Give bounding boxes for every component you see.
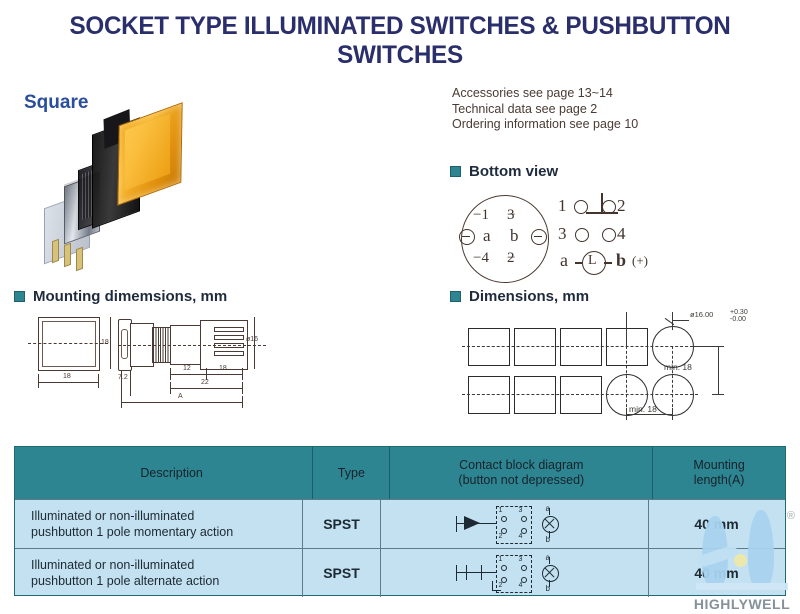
cell-type: SPST (303, 500, 381, 548)
extension-line (693, 346, 719, 347)
specification-table: Description Type Contact block diagram (… (14, 446, 786, 596)
dim-min-spacing-vertical: min. 18 (664, 362, 692, 372)
dim-hole-diameter: ø16.00 (690, 310, 713, 319)
terminal-marker-left-icon (459, 229, 475, 245)
description-line-1: Illuminated or non-illuminated (31, 557, 219, 573)
square-bullet-icon (450, 291, 461, 302)
section-heading-label: Dimensions, mm (469, 288, 589, 305)
cell-contact-block-diagram: 1 3 2 4 a b (381, 500, 649, 548)
header-type: Type (313, 447, 390, 499)
tolerance-minus: -0.00 (730, 316, 746, 324)
table-row[interactable]: Illuminated or non-illuminated pushbutto… (15, 499, 785, 548)
dim-tick (712, 394, 724, 395)
schematic-polarity: (+) (632, 253, 648, 269)
dim-tick (98, 374, 99, 388)
page-title: SOCKET TYPE ILLUMINATED SWITCHES & PUSHB… (12, 12, 788, 70)
reference-ordering-info: Ordering information see page 10 (452, 117, 638, 133)
pin-line (214, 327, 244, 332)
dim-tick (170, 382, 171, 394)
pin-line (214, 335, 244, 340)
lamp-label-a: a (546, 553, 550, 562)
diagram-contact-node (521, 565, 527, 571)
table-row[interactable]: Illuminated or non-illuminated pushbutto… (15, 548, 785, 597)
schematic-lamp-a: a (560, 250, 568, 271)
schematic-terminal-3: 3 (558, 224, 567, 244)
header-mounting-length: Mounting length(A) (653, 447, 785, 499)
datasheet-page: SOCKET TYPE ILLUMINATED SWITCHES & PUSHB… (0, 0, 800, 614)
dim-segment-18: 18 (219, 365, 227, 372)
momentary-arrow-icon (464, 516, 480, 530)
brand-name: HIGHLYWELL (684, 596, 800, 612)
lamp-cross-icon (542, 565, 557, 580)
socket-pin (52, 239, 59, 264)
leader-line (673, 320, 689, 321)
dim-total-22: 22 (201, 379, 209, 386)
dim-line-diameter (254, 317, 255, 369)
dim-front-width: 18 (63, 373, 71, 380)
lamp-terminal-a-label: a (483, 226, 491, 246)
square-bullet-icon (14, 291, 25, 302)
centerline-vertical (626, 312, 627, 348)
mounting-length-value: 40 mm (694, 565, 738, 581)
diagram-contact-node (501, 528, 507, 534)
header-sublabel: (button not depressed) (458, 473, 584, 488)
dim-line-A (121, 402, 242, 403)
diagram-contact-node (501, 577, 507, 583)
cutout-square (468, 376, 510, 414)
diagram-terminal-4: 4 (519, 582, 523, 589)
cell-mounting-length: 40 mm (649, 549, 784, 597)
square-bullet-icon (450, 166, 461, 177)
description-line-2: pushbutton 1 pole alternate action (31, 573, 219, 589)
reference-notes: Accessories see page 13~14 Technical dat… (452, 86, 638, 133)
section-heading-label: Bottom view (469, 163, 558, 180)
terminal-3-label: 3− (507, 207, 515, 224)
cell-mounting-length: 40 mm (649, 500, 784, 548)
schematic-lead-left (575, 262, 582, 264)
pin-group (214, 327, 244, 359)
dim-diameter: ø16 (246, 336, 258, 343)
centerline-vertical (626, 346, 627, 412)
cell-contact-block-diagram: 1 3 2 4 a b (381, 549, 649, 597)
terminal-2-label: 2− (507, 250, 515, 267)
description-line-1: Illuminated or non-illuminated (31, 508, 233, 524)
schematic-terminal-1: 1 (558, 196, 567, 216)
diagram-terminal-2: 2 (499, 582, 503, 589)
section-heading-bottom-view: Bottom view (450, 163, 558, 180)
diagram-terminal-3: 3 (519, 507, 523, 514)
diagram-terminal-1: 1 (499, 507, 503, 514)
dim-line-18 (206, 374, 242, 375)
dim-line-width (38, 382, 98, 383)
diagram-terminal-4: 4 (519, 533, 523, 540)
dim-segment-12: 12 (183, 365, 191, 372)
schematic-node-3-icon (575, 228, 589, 242)
centerline-vertical (672, 312, 673, 330)
diagram-contact-node (521, 516, 527, 522)
diagram-terminal-1: 1 (499, 556, 503, 563)
centerline-horizontal (118, 345, 266, 346)
dim-line-12 (170, 374, 206, 375)
schematic-node-2-icon (602, 200, 616, 214)
schematic-node-4-icon (602, 228, 616, 242)
reference-accessories: Accessories see page 13~14 (452, 86, 638, 102)
contact-block-diagram-momentary: 1 3 2 4 a b (456, 504, 574, 544)
schematic-lead-right (604, 262, 612, 264)
header-label: Contact block diagram (459, 458, 583, 473)
section-heading-mounting: Mounting dimemsions, mm (14, 288, 227, 305)
side-view-assembly (118, 317, 266, 373)
cutout-square (468, 328, 510, 366)
registered-mark: ® (787, 510, 795, 522)
dim-tick (242, 368, 243, 380)
dim-line-vertical (718, 346, 719, 394)
dim-tick (626, 408, 627, 420)
type-value: SPST (323, 565, 360, 581)
cutout-square (514, 376, 556, 414)
terminal-marker-right-icon (531, 229, 547, 245)
lamp-cross-icon (542, 516, 557, 531)
mounting-dimension-drawing: 18 18 ø16 7.2 (18, 312, 268, 412)
type-value: SPST (323, 516, 360, 532)
socket-pin (76, 247, 83, 272)
header-label: Type (338, 466, 365, 481)
centerline-horizontal (462, 346, 698, 347)
flange-inner (121, 329, 128, 359)
panel-cutout-layout-drawing: ø16.00 +0.30 -0.00 min. 18 min. 18 (468, 310, 788, 420)
dim-line-horizontal (626, 414, 672, 415)
cell-description: Illuminated or non-illuminated pushbutto… (15, 500, 303, 548)
terminal-4-label: −4 (473, 250, 481, 267)
schematic-lamp-b: b (616, 250, 626, 271)
diagram-contact-node (501, 565, 507, 571)
mounting-length-value: 40 mm (694, 516, 738, 532)
centerline-horizontal (462, 394, 698, 395)
product-photo (40, 108, 210, 263)
terminal-1-label: −1 (473, 207, 481, 224)
dim-flange-thickness: 7.2 (118, 374, 128, 381)
cell-description: Illuminated or non-illuminated pushbutto… (15, 549, 303, 597)
header-description: Description (15, 447, 313, 499)
front-view-inner-square (42, 321, 96, 367)
section-heading-label: Mounting dimemsions, mm (33, 288, 227, 305)
diagram-terminal-2: 2 (499, 533, 503, 540)
dim-overall-A: A (178, 393, 183, 400)
cutout-square (514, 328, 556, 366)
lamp-letter: L (588, 253, 597, 269)
dim-tick (121, 396, 122, 408)
photo-shadow (64, 171, 100, 244)
reference-technical-data: Technical data see page 2 (452, 102, 638, 118)
lamp-label-b: b (546, 584, 550, 593)
dim-line-height (110, 317, 111, 369)
centerline-vertical (672, 346, 673, 412)
dim-min-spacing-horizontal: min. 18 (629, 404, 657, 414)
header-contact-block-diagram: Contact block diagram (button not depres… (390, 447, 653, 499)
header-label: Mounting (693, 458, 744, 473)
dim-ext-line (130, 370, 131, 396)
dim-tick (242, 382, 243, 394)
schematic-terminal-4: 4 (617, 224, 626, 244)
cutout-square (560, 328, 602, 366)
dim-line-22 (170, 388, 242, 389)
description-line-2: pushbutton 1 pole momentary action (31, 524, 233, 540)
header-label: Description (140, 466, 203, 481)
header-sublabel: length(A) (694, 473, 745, 488)
table-header-row: Description Type Contact block diagram (… (15, 447, 785, 499)
socket-pin (64, 243, 71, 268)
diagram-contact-node (521, 528, 527, 534)
schematic-terminal-2: 2 (617, 196, 626, 216)
bottom-view-terminal-circle: −1 3− −4 2− a b (455, 193, 560, 283)
contact-block-diagram-alternate: 1 3 2 4 a b (456, 553, 574, 593)
cutout-square (560, 376, 602, 414)
alternate-notch-icon (466, 565, 482, 580)
lamp-label-b: b (546, 535, 550, 544)
dim-tick (672, 408, 673, 420)
bottom-view-schematic: 1 2 3 4 a L b (+) (558, 193, 708, 283)
dim-front-height: 18 (101, 339, 109, 346)
lamp-label-a: a (546, 504, 550, 513)
diagram-terminal-3: 3 (519, 556, 523, 563)
dim-tick (38, 374, 39, 388)
dim-tick (242, 396, 243, 408)
cell-type: SPST (303, 549, 381, 597)
diagram-contact-node (521, 577, 527, 583)
lamp-terminal-b-label: b (510, 226, 519, 246)
section-heading-dimensions: Dimensions, mm (450, 288, 589, 305)
centerline-horizontal (28, 343, 108, 344)
dim-tick (170, 368, 171, 380)
pin-line (214, 351, 244, 356)
diagram-contact-node (501, 516, 507, 522)
